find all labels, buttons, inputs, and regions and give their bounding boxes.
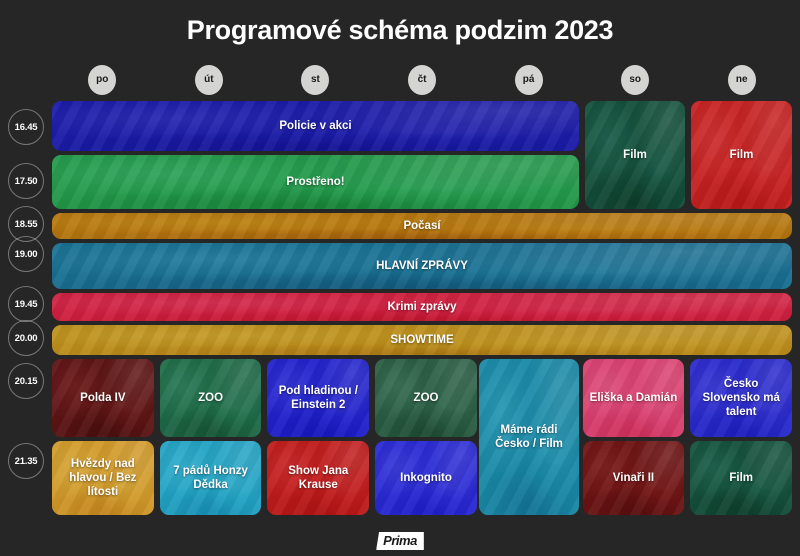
time-badge-2000: 20.00 — [8, 320, 44, 356]
row-2015: Polda IV ZOO Pod hladinou / Einstein 2 Z… — [52, 359, 792, 437]
program-label: Film — [729, 471, 753, 485]
program-label: SHOWTIME — [390, 333, 453, 347]
program-tile-krimi-zpravy[interactable]: Krimi zprávy — [52, 293, 792, 321]
day-header-st: st — [265, 64, 366, 96]
program-label: ZOO — [414, 391, 439, 405]
day-header-ut: út — [159, 64, 260, 96]
program-label: Máme rádi Česko / Film — [483, 423, 575, 451]
program-tile-zoo-tuesday[interactable]: ZOO — [160, 359, 262, 437]
day-header-pa: pá — [478, 64, 579, 96]
evening-block: Policie v akci Prostřeno! Film Film — [52, 101, 792, 209]
program-label: Krimi zprávy — [387, 300, 456, 314]
time-badge-1900: 19.00 — [8, 236, 44, 272]
time-badge-1645: 16.45 — [8, 109, 44, 145]
row-2135: Hvězdy nad hlavou / Bez lítosti 7 pádů H… — [52, 441, 792, 515]
prima-logo: Prima — [376, 532, 424, 550]
program-label: Polda IV — [80, 391, 125, 405]
program-label: Policie v akci — [279, 119, 351, 133]
page-title: Programové schéma podzim 2023 — [0, 0, 800, 48]
row-2000: SHOWTIME — [52, 325, 792, 355]
program-label: Počasí — [403, 219, 440, 233]
program-label: Česko Slovensko má talent — [694, 377, 788, 419]
schedule-grid: Policie v akci Prostřeno! Film Film Poča… — [52, 101, 792, 519]
program-tile-hlavni-zpravy[interactable]: HLAVNÍ ZPRÁVY — [52, 243, 792, 289]
day-circle-ut: út — [195, 65, 223, 95]
program-label: ZOO — [198, 391, 223, 405]
program-tile-prostreno[interactable]: Prostřeno! — [52, 155, 579, 209]
day-header-so: so — [585, 64, 686, 96]
row-1945: Krimi zprávy — [52, 293, 792, 321]
program-tile-7-padu-honzy-dedka[interactable]: 7 pádů Honzy Dědka — [160, 441, 262, 515]
day-circle-ct: čt — [408, 65, 436, 95]
program-tile-polda-iv[interactable]: Polda IV — [52, 359, 154, 437]
program-tile-film-sunday-late[interactable]: Film — [690, 441, 792, 515]
day-circle-pa: pá — [515, 65, 543, 95]
day-circle-po: po — [88, 65, 116, 95]
program-tile-inkognito[interactable]: Inkognito — [375, 441, 477, 515]
program-label: Inkognito — [400, 471, 452, 485]
day-header-ne: ne — [691, 64, 792, 96]
day-circle-st: st — [301, 65, 329, 95]
day-circle-ne: ne — [728, 65, 756, 95]
program-label: Eliška a Damián — [590, 391, 678, 405]
program-tile-pocasi[interactable]: Počasí — [52, 213, 792, 239]
program-tile-policie-v-akci[interactable]: Policie v akci — [52, 101, 579, 151]
program-label: Show Jana Krause — [271, 464, 365, 492]
primetime-block: Polda IV ZOO Pod hladinou / Einstein 2 Z… — [52, 359, 792, 515]
time-badge-1945: 19.45 — [8, 286, 44, 322]
program-label: Vinaři II — [613, 471, 654, 485]
row-1855: Počasí — [52, 213, 792, 239]
program-label: Film — [623, 148, 647, 162]
program-tile-mame-radi-cesko-film[interactable]: Máme rádi Česko / Film — [479, 359, 579, 515]
day-header-row: po út st čt pá so ne — [52, 64, 792, 96]
program-label: HLAVNÍ ZPRÁVY — [376, 259, 468, 273]
time-badge-1750: 17.50 — [8, 163, 44, 199]
program-label: Pod hladinou / Einstein 2 — [271, 384, 365, 412]
program-tile-eliska-a-damian[interactable]: Eliška a Damián — [583, 359, 685, 437]
day-header-po: po — [52, 64, 153, 96]
program-label: 7 pádů Honzy Dědka — [164, 464, 258, 492]
program-tile-showtime[interactable]: SHOWTIME — [52, 325, 792, 355]
program-label: Prostřeno! — [286, 175, 344, 189]
program-label: Hvězdy nad hlavou / Bez lítosti — [56, 457, 150, 499]
program-tile-vinari-ii[interactable]: Vinaři II — [583, 441, 685, 515]
program-label: Film — [730, 148, 754, 162]
day-circle-so: so — [621, 65, 649, 95]
program-tile-cesko-slovensko-ma-talent[interactable]: Česko Slovensko má talent — [690, 359, 792, 437]
program-tile-show-jana-krause[interactable]: Show Jana Krause — [267, 441, 369, 515]
program-tile-hvezdy-nad-hlavou-bez-litosti[interactable]: Hvězdy nad hlavou / Bez lítosti — [52, 441, 154, 515]
time-badge-2015: 20.15 — [8, 363, 44, 399]
row-1900: HLAVNÍ ZPRÁVY — [52, 243, 792, 289]
program-tile-film-saturday[interactable]: Film — [585, 101, 685, 209]
day-header-ct: čt — [372, 64, 473, 96]
time-badge-2135: 21.35 — [8, 443, 44, 479]
program-tile-pod-hladinou-einstein-2[interactable]: Pod hladinou / Einstein 2 — [267, 359, 369, 437]
program-tile-zoo-thursday[interactable]: ZOO — [375, 359, 477, 437]
program-tile-film-sunday[interactable]: Film — [691, 101, 792, 209]
